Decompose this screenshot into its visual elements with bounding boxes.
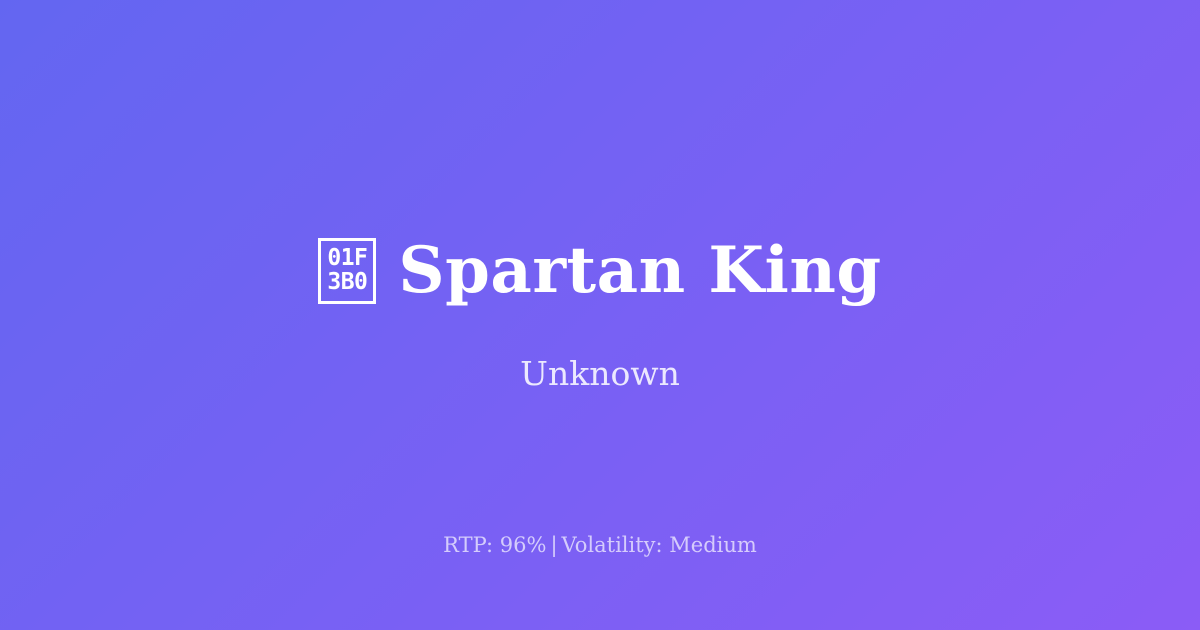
hero-block: 01F 3B0 Spartan King Unknown — [0, 236, 1200, 394]
stats-separator: | — [546, 533, 561, 557]
game-stats-line: RTP: 96%|Volatility: Medium — [0, 533, 1200, 558]
page-title: Spartan King — [398, 236, 881, 306]
slot-machine-icon-codepoint-high: 01F — [327, 247, 367, 271]
slot-machine-icon: 01F 3B0 — [318, 238, 376, 304]
rtp-value: RTP: 96% — [443, 533, 546, 557]
og-preview-card: 01F 3B0 Spartan King Unknown RTP: 96%|Vo… — [0, 0, 1200, 630]
slot-machine-icon-codepoint-low: 3B0 — [327, 271, 367, 295]
volatility-value: Volatility: Medium — [562, 533, 757, 557]
provider-subtitle: Unknown — [520, 354, 680, 394]
title-row: 01F 3B0 Spartan King — [318, 236, 881, 306]
